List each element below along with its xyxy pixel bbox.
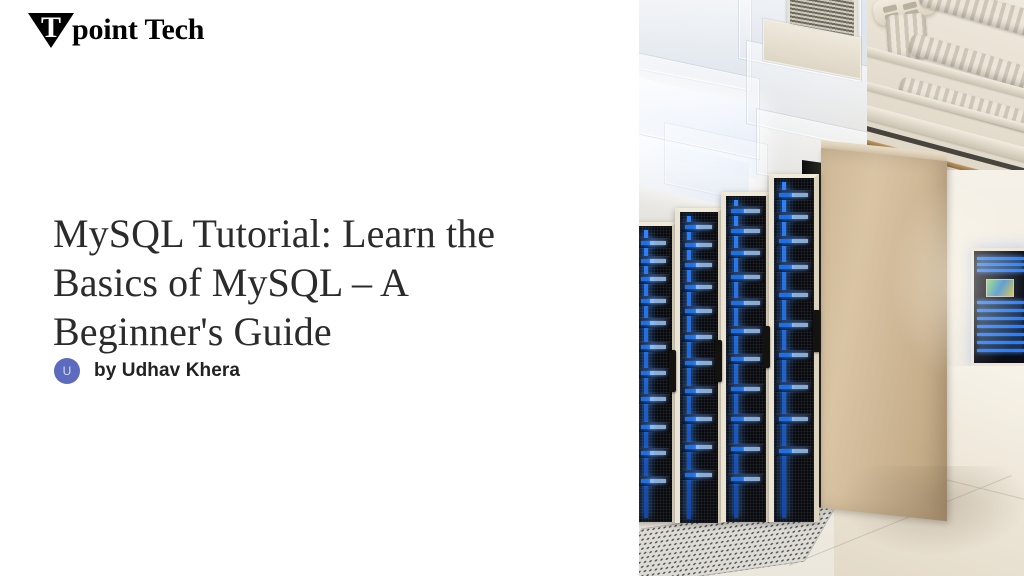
logo-mark-letter: T bbox=[28, 12, 74, 44]
server-rack-row bbox=[639, 150, 817, 530]
page-title: MySQL Tutorial: Learn the Basics of MySQ… bbox=[53, 209, 573, 356]
logo-wordmark: point Tech bbox=[72, 15, 204, 45]
rack-door-handle bbox=[763, 326, 770, 368]
floor-shadow bbox=[839, 466, 1024, 556]
byline: U by Udhav Khera bbox=[54, 358, 240, 384]
hero-photo-datacenter bbox=[639, 0, 1024, 576]
author-name: by Udhav Khera bbox=[94, 360, 240, 382]
left-text-panel: T point Tech MySQL Tutorial: Learn the B… bbox=[0, 0, 640, 576]
rack-door-handle bbox=[669, 350, 676, 392]
brand-logo[interactable]: T point Tech bbox=[28, 10, 204, 50]
triangle-t-icon: T bbox=[28, 11, 74, 49]
rack-door-handle bbox=[715, 340, 722, 382]
distant-server-rack bbox=[971, 248, 1024, 366]
rack-status-display bbox=[986, 279, 1014, 297]
duct-pipe bbox=[918, 0, 1024, 38]
rack-door-handle bbox=[813, 310, 820, 352]
slide-canvas: T point Tech MySQL Tutorial: Learn the B… bbox=[0, 0, 1024, 576]
avatar: U bbox=[54, 358, 80, 384]
server-rack bbox=[769, 174, 819, 522]
